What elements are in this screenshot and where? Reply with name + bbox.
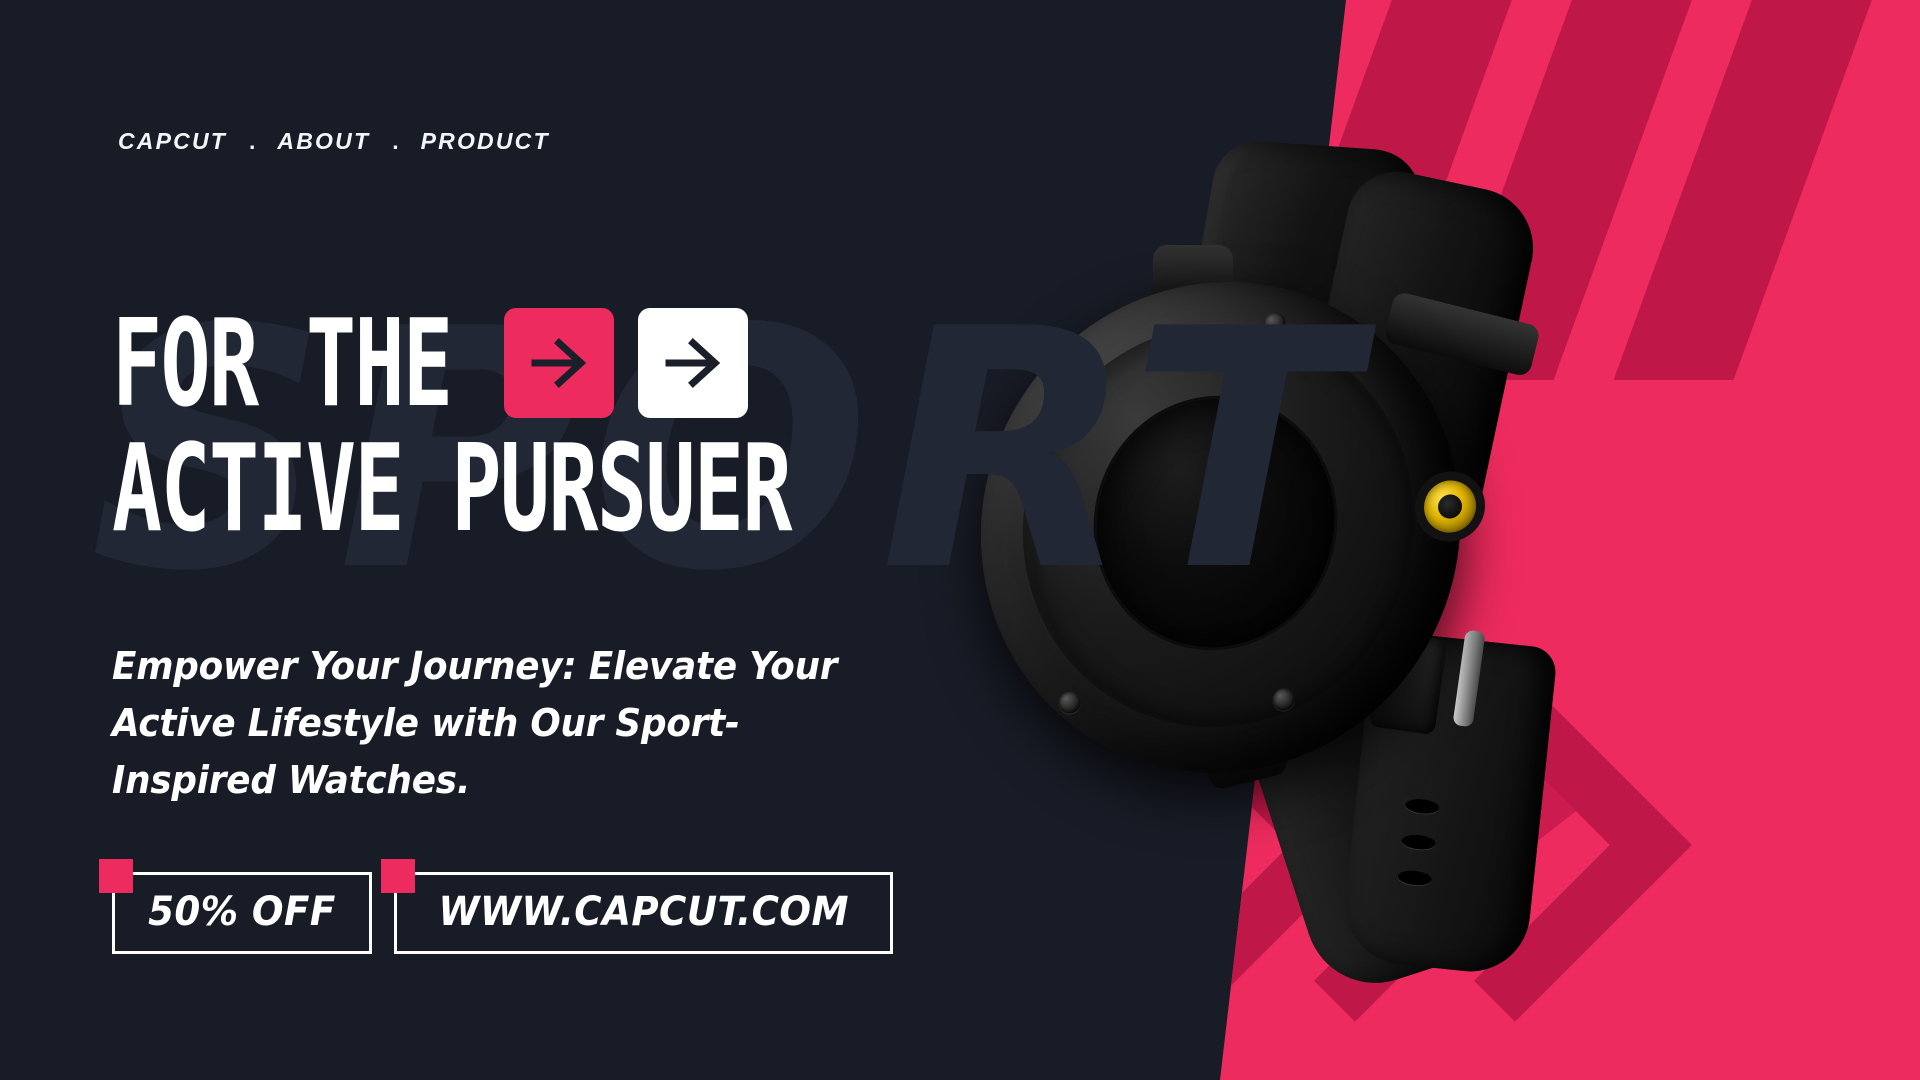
website-badge[interactable]: WWW.CAPCUT.COM [394,872,893,954]
website-badge-label: WWW.CAPCUT.COM [438,889,849,935]
headline-line-2: ACTIVE PURSUER [112,428,791,549]
headline-line-1: FOR THE [112,303,451,424]
arrow-right-icon [661,331,725,395]
watch-screw-icon [1058,691,1081,715]
discount-badge[interactable]: 50% OFF [112,872,372,954]
promo-banner: SPORT CAPCUT . ABOUT . PRODUCT FOR THE [0,0,1920,1080]
badge-corner-marker [99,859,133,893]
nav-item-product[interactable]: PRODUCT [421,128,550,155]
arrow-button-group [504,308,748,418]
subheadline-text: Empower Your Journey: Elevate Your Activ… [112,638,892,809]
headline-row-1: FOR THE [112,308,961,418]
watch-strap-holes [1375,790,1478,929]
headline-block: FOR THE [112,308,961,540]
badge-group: 50% OFF WWW.CAPCUT.COM [112,872,893,954]
arrow-button-secondary[interactable] [638,308,748,418]
top-navigation: CAPCUT . ABOUT . PRODUCT [118,128,550,155]
nav-separator: . [392,128,398,155]
discount-badge-label: 50% OFF [148,889,336,935]
nav-separator: . [249,128,255,155]
badge-corner-marker [381,859,415,893]
nav-item-capcut[interactable]: CAPCUT [118,128,227,155]
arrow-right-icon [527,331,591,395]
watch-crown-button [1423,479,1477,535]
nav-item-about[interactable]: ABOUT [277,128,370,155]
arrow-button-primary[interactable] [504,308,614,418]
